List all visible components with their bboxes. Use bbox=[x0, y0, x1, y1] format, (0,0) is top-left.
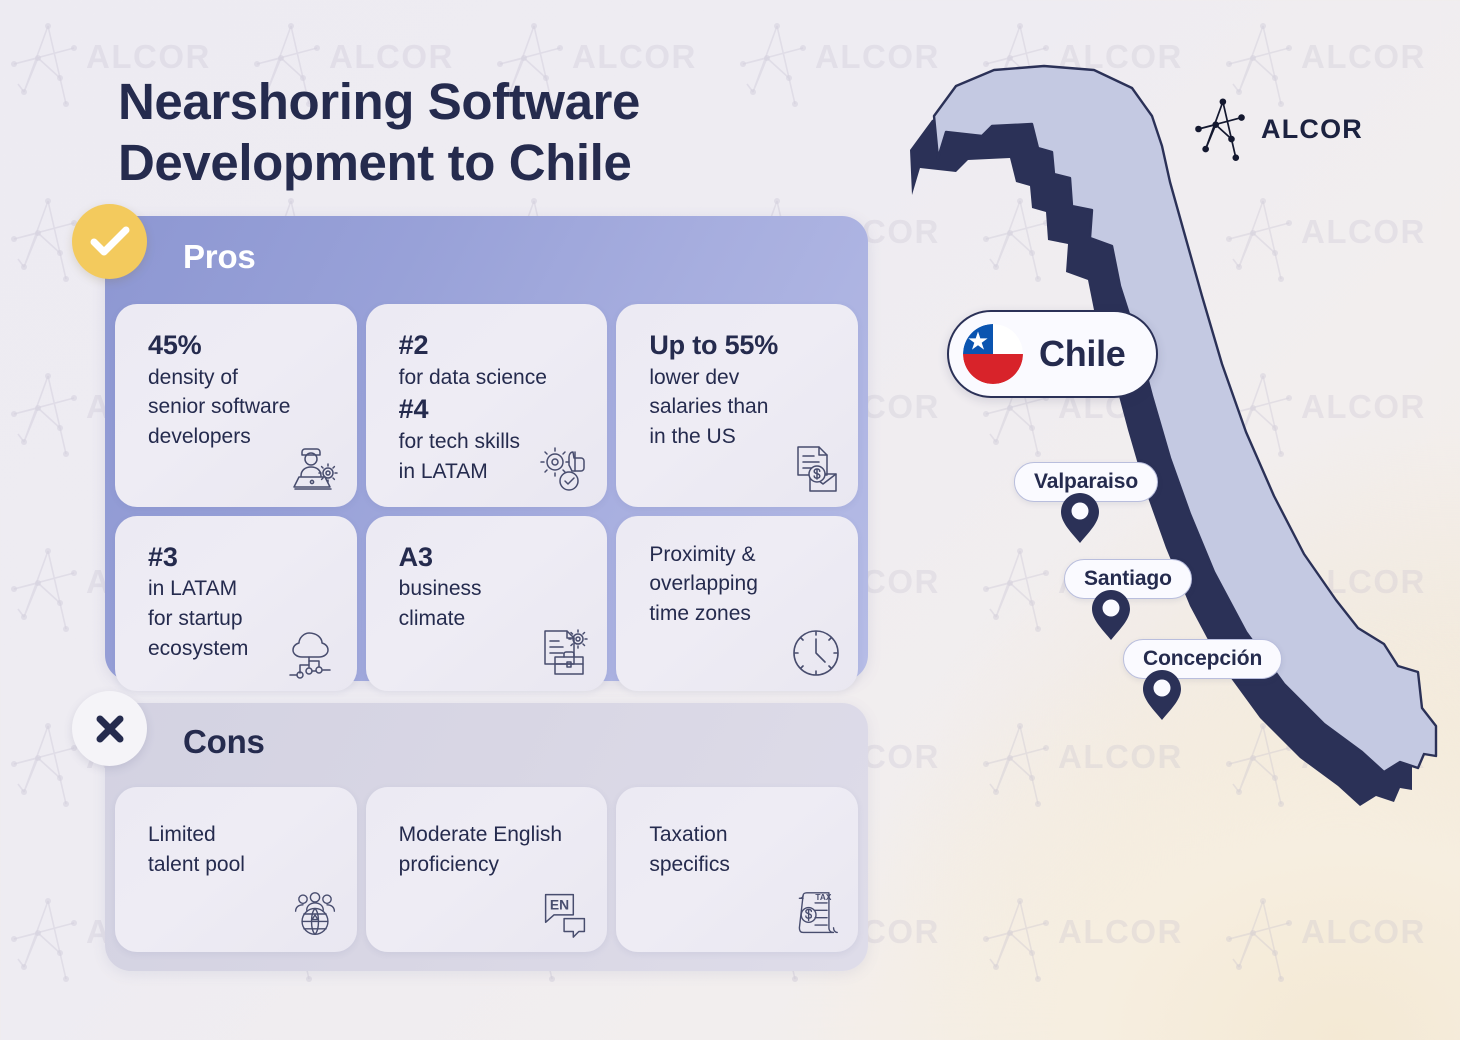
pros-card-rankings[interactable]: #2 for data science #4 for tech skills i… bbox=[366, 304, 608, 507]
clock-icon bbox=[790, 627, 842, 679]
card-line: climate bbox=[399, 604, 588, 634]
card-stat: A3 bbox=[399, 540, 588, 575]
cons-card-english[interactable]: Moderate English proficiency EN bbox=[366, 787, 608, 952]
card-line: Limited bbox=[148, 820, 337, 850]
pros-card-salaries[interactable]: Up to 55% lower dev salaries than in the… bbox=[616, 304, 858, 507]
pros-card-business-climate[interactable]: A3 business climate bbox=[366, 516, 608, 691]
card-stat: #3 bbox=[148, 540, 337, 575]
card-line: business bbox=[399, 574, 588, 604]
page-title-line2: Development to Chile bbox=[118, 133, 838, 194]
card-line: talent pool bbox=[148, 850, 337, 880]
card-line: for startup bbox=[148, 604, 337, 634]
alcor-logo: ALCOR bbox=[1192, 96, 1363, 162]
city-label: Santiago bbox=[1084, 567, 1172, 591]
alcor-logo-text: ALCOR bbox=[1261, 114, 1363, 145]
svg-text:TAX: TAX bbox=[815, 892, 831, 902]
page-title-line1: Nearshoring Software bbox=[118, 72, 838, 133]
card-text: 45% density of senior software developer… bbox=[148, 328, 337, 452]
card-stat: 45% bbox=[148, 328, 337, 363]
card-stat: Up to 55% bbox=[649, 328, 838, 363]
card-line: Proximity & bbox=[649, 540, 838, 570]
tax-document-dollar-icon: TAX bbox=[792, 890, 840, 938]
card-line: overlapping bbox=[649, 569, 838, 599]
card-line: in the US bbox=[649, 422, 838, 452]
card-line: time zones bbox=[649, 599, 838, 629]
pros-card-density[interactable]: 45% density of senior software developer… bbox=[115, 304, 357, 507]
map-pin-icon-concepcion[interactable] bbox=[1142, 669, 1182, 721]
check-icon bbox=[72, 204, 147, 279]
cons-card-grid: Limited talent pool bbox=[115, 787, 858, 952]
card-text: Up to 55% lower dev salaries than in the… bbox=[649, 328, 838, 452]
pros-card-timezones[interactable]: Proximity & overlapping time zones bbox=[616, 516, 858, 691]
document-briefcase-gear-icon bbox=[539, 627, 591, 679]
en-speech-bubble-icon: EN bbox=[541, 890, 589, 938]
card-stat-2: #4 bbox=[399, 392, 588, 427]
card-line: specifics bbox=[649, 850, 838, 880]
card-text: Proximity & overlapping time zones bbox=[649, 540, 838, 629]
cons-card-talent-pool[interactable]: Limited talent pool bbox=[115, 787, 357, 952]
card-line: ecosystem bbox=[148, 634, 337, 664]
card-line: Taxation bbox=[649, 820, 838, 850]
card-line: proficiency bbox=[399, 850, 588, 880]
card-text: #3 in LATAM for startup ecosystem bbox=[148, 540, 337, 664]
svg-text:EN: EN bbox=[550, 896, 569, 912]
card-line: for tech skills bbox=[399, 427, 588, 457]
chile-map-area bbox=[860, 0, 1460, 1040]
chile-map-shape bbox=[860, 0, 1460, 1040]
card-text: Moderate English proficiency bbox=[399, 820, 588, 880]
people-globe-icon bbox=[291, 890, 339, 938]
pros-panel: Pros 45% density of senior software deve… bbox=[105, 216, 868, 681]
chile-flag-icon bbox=[963, 324, 1023, 384]
card-line: developers bbox=[148, 422, 337, 452]
close-x-icon bbox=[72, 691, 147, 766]
card-line: lower dev bbox=[649, 363, 838, 393]
pros-header-label: Pros bbox=[183, 238, 256, 276]
card-line: senior software bbox=[148, 392, 337, 422]
country-badge-chile[interactable]: Chile bbox=[947, 310, 1158, 398]
page-title: Nearshoring Software Development to Chil… bbox=[118, 72, 838, 193]
card-line: for data science bbox=[399, 363, 588, 393]
card-line: density of bbox=[148, 363, 337, 393]
card-text: #2 for data science #4 for tech skills i… bbox=[399, 328, 588, 487]
cons-header-label: Cons bbox=[183, 723, 265, 761]
card-text: Taxation specifics bbox=[649, 820, 838, 880]
cons-card-taxation[interactable]: Taxation specifics TAX bbox=[616, 787, 858, 952]
pros-card-startup[interactable]: #3 in LATAM for startup ecosystem bbox=[115, 516, 357, 691]
card-text: Limited talent pool bbox=[148, 820, 337, 880]
content-column: Nearshoring Software Development to Chil… bbox=[0, 0, 900, 1040]
alcor-constellation-icon bbox=[1192, 96, 1248, 162]
card-line: in LATAM bbox=[148, 574, 337, 604]
card-line: salaries than bbox=[649, 392, 838, 422]
card-stat: #2 bbox=[399, 328, 588, 363]
country-label: Chile bbox=[1039, 333, 1126, 375]
cons-panel: Cons Limited talent pool bbox=[105, 703, 868, 971]
city-label: Valparaiso bbox=[1034, 470, 1138, 494]
card-line: in LATAM bbox=[399, 457, 588, 487]
city-label: Concepción bbox=[1143, 647, 1262, 671]
map-pin-icon-santiago[interactable] bbox=[1091, 589, 1131, 641]
pros-card-grid: 45% density of senior software developer… bbox=[115, 304, 858, 691]
card-text: A3 business climate bbox=[399, 540, 588, 634]
map-pin-icon-valparaiso[interactable] bbox=[1060, 492, 1100, 544]
card-line: Moderate English bbox=[399, 820, 588, 850]
